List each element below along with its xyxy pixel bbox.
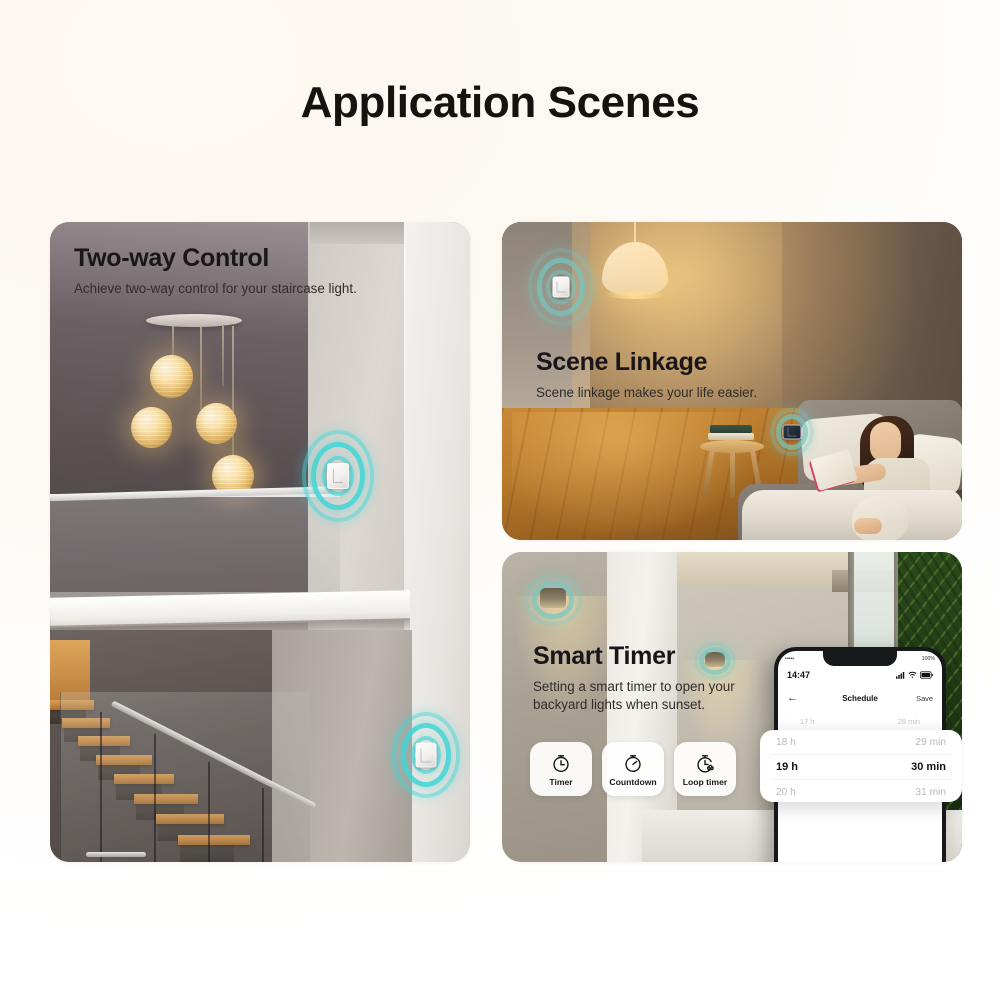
carrier-dots: ••••• (785, 656, 794, 662)
stair-glass-panels (60, 692, 310, 862)
phone-nav-bar: ← Schedule Save (778, 687, 942, 709)
smart-timer-heading: Smart Timer (533, 642, 755, 671)
time-picker-hour: 19 h (776, 761, 798, 773)
status-indicator-icons (896, 666, 933, 684)
timer-mode-button[interactable]: Timer (530, 742, 592, 796)
wall-switch-entry-marker[interactable] (528, 248, 594, 326)
pendant-globe-2 (131, 407, 172, 448)
status-clock: 14:47 (787, 670, 810, 680)
pendant-canopy (146, 314, 242, 327)
woman-hand (854, 518, 882, 534)
glass-post-2 (154, 734, 156, 862)
wall-switch-bedside[interactable] (783, 425, 802, 440)
wall-switch-lower[interactable] (416, 743, 437, 768)
pendant-cord-4 (232, 326, 234, 462)
woman-face (870, 422, 901, 462)
two-way-control-subheading: Achieve two-way control for your stairca… (74, 280, 357, 298)
cellular-signal-icon (896, 666, 905, 684)
glass-post-1 (100, 712, 102, 862)
stopwatch-countdown-icon (622, 752, 644, 774)
stopwatch-loop-icon (694, 752, 716, 774)
timer-mode-buttons: Timer Countdown Loop timer (530, 742, 736, 796)
upper-glass-balustrade (50, 494, 340, 602)
save-button[interactable]: Save (916, 694, 933, 703)
books-stack-upper (710, 425, 752, 433)
time-picker-row-selected[interactable]: 19 h 30 min (760, 755, 962, 779)
pendant-cord-3 (222, 326, 224, 386)
time-picker-card[interactable]: 18 h 29 min 19 h 30 min 20 h 31 min (760, 730, 962, 802)
wifi-icon (908, 666, 917, 684)
nightstand-leg-2 (730, 452, 735, 498)
smart-timer-subheading: Setting a smart timer to open your backy… (533, 678, 755, 714)
panel-smart-timer: Smart Timer Setting a smart timer to ope… (502, 552, 962, 862)
pendant-cord-2 (200, 326, 202, 410)
two-way-control-heading: Two-way Control (74, 244, 357, 273)
schedule-row[interactable]: 17 h 28 min (778, 711, 942, 732)
bedroom-pendant-cord (634, 222, 636, 244)
panel-scene-linkage: Scene Linkage Scene linkage makes your l… (502, 222, 962, 540)
wall-switch-entry[interactable] (553, 277, 570, 298)
wall-switch-upper-marker[interactable] (302, 430, 374, 522)
schedule-hour: 17 h (800, 717, 814, 726)
time-picker-minute: 29 min (915, 737, 946, 748)
wall-switch-upper[interactable] (327, 463, 349, 489)
pendant-globe-1 (150, 355, 193, 398)
loop-timer-mode-label: Loop timer (683, 777, 727, 787)
countdown-mode-label: Countdown (609, 777, 656, 787)
arrow-left-icon[interactable]: ← (787, 693, 798, 704)
phone-carrier-row: ••••• 100% (785, 653, 935, 665)
stopwatch-timer-icon (550, 752, 572, 774)
phone-status-bar: 14:47 (787, 668, 933, 681)
books-stack-lower (708, 433, 754, 440)
stair-handrail-lower (86, 852, 146, 857)
panel-two-way-control: Two-way Control Achieve two-way control … (50, 222, 470, 862)
page-title: Application Scenes (0, 78, 1000, 128)
two-way-control-text-block: Two-way Control Achieve two-way control … (74, 244, 357, 298)
smart-timer-text-block: Smart Timer Setting a smart timer to ope… (533, 642, 755, 714)
scene-linkage-subheading: Scene linkage makes your life easier. (536, 384, 757, 402)
schedule-minute: 28 min (898, 717, 920, 726)
bedroom-wall-right (782, 222, 962, 422)
time-picker-minute: 31 min (915, 787, 946, 798)
time-picker-hour: 20 h (776, 787, 796, 798)
wall-switch-bedside-marker[interactable] (770, 408, 814, 456)
time-picker-row[interactable]: 18 h 29 min (760, 730, 962, 754)
wall-light-marker-1[interactable] (524, 574, 582, 626)
timer-mode-label: Timer (549, 777, 572, 787)
battery-percent-label: 100% (922, 656, 935, 662)
scene-linkage-text-block: Scene Linkage Scene linkage makes your l… (536, 348, 757, 402)
loop-timer-mode-button[interactable]: Loop timer (674, 742, 736, 796)
time-picker-row[interactable]: 20 h 31 min (760, 780, 962, 802)
wall-switch-lower-marker[interactable] (392, 712, 460, 798)
battery-full-icon (920, 666, 933, 684)
countdown-mode-button[interactable]: Countdown (602, 742, 664, 796)
time-picker-hour: 18 h (776, 737, 796, 748)
time-picker-minute: 30 min (911, 761, 946, 773)
glass-post-3 (208, 762, 210, 862)
glass-post-4 (262, 788, 264, 862)
scene-linkage-heading: Scene Linkage (536, 348, 757, 377)
pendant-globe-3 (196, 403, 237, 444)
